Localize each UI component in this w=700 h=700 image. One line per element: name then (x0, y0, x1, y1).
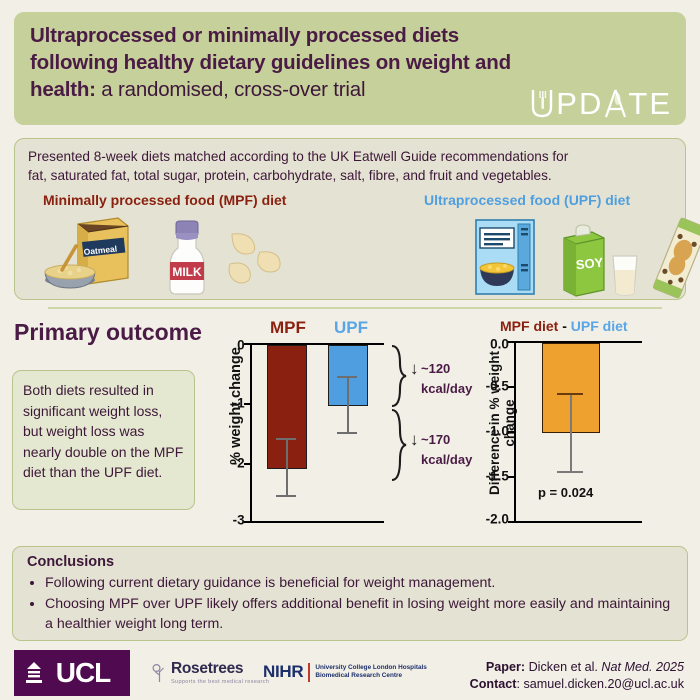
chart2-tick-2 (508, 431, 514, 433)
primary-outcome-summary: Both diets resulted in significant weigh… (12, 370, 195, 510)
chart1-bottom-line (250, 521, 384, 523)
footer: UCL Rosetrees Supports the best medical … (0, 648, 700, 700)
infographic-page: Ultraprocessed or minimally processed di… (0, 0, 700, 700)
chart2-tick-4 (508, 521, 514, 523)
chart2-tick-1 (508, 386, 514, 388)
update-u-fork-icon (530, 88, 554, 119)
errorbar-difference-cap-top (557, 393, 583, 395)
glass-of-milk-icon (606, 250, 644, 298)
ucl-logo: UCL (14, 650, 130, 696)
paper-journal: Nat Med. 2025 (601, 660, 684, 674)
nihr-logo: NIHR University College London Hospitals… (263, 662, 427, 682)
nihr-subtitle-line-2: Biomedical Research Centre (315, 672, 427, 680)
chart2-title-upf: UPF diet (571, 318, 628, 334)
diets-panel: Presented 8-week diets matched according… (14, 138, 686, 300)
errorbar-upf (347, 376, 349, 432)
nihr-divider (308, 663, 310, 682)
rosetrees-logo: Rosetrees Supports the best medical rese… (152, 660, 269, 685)
conclusions-list: Following current dietary guidance is be… (45, 573, 673, 634)
update-letter-e: E (649, 88, 672, 119)
cereal-box-icon (468, 216, 544, 300)
contact-line: Contact: samuel.dicken.20@ucl.ac.uk (470, 676, 684, 693)
ucl-wordmark: UCL (56, 657, 111, 689)
chart1-ticklabel-2: -2 (233, 456, 245, 471)
chart1-tick-0 (244, 343, 250, 345)
diet-headings: Minimally processed food (MPF) diet Ultr… (28, 192, 672, 212)
cashew-nuts-icon (224, 228, 288, 290)
kcal-170-value: ~170 (421, 432, 450, 447)
errorbar-upf-cap-bottom (337, 432, 357, 434)
nihr-subtitle: University College London Hospitals Biom… (315, 664, 427, 680)
update-a-knife-icon (603, 88, 628, 119)
cereal-bar-icon (646, 216, 700, 300)
errorbar-upf-cap-top (337, 376, 357, 378)
errorbar-mpf-cap-bottom (276, 495, 296, 497)
contact-email[interactable]: : samuel.dicken.20@ucl.ac.uk (517, 677, 685, 691)
svg-text:SOY: SOY (575, 255, 604, 273)
title-subtitle: a randomised, cross-over trial (96, 78, 366, 101)
food-illustrations-row: Oatmeal MILK (28, 214, 672, 302)
kcal-annotations: ↓ ~120 kcal/day ↓ ~170 kcal/day (388, 343, 460, 525)
chart1-plot-area: 0 -1 -2 -3 (250, 343, 384, 523)
conclusions-panel: Conclusions Following current dietary gu… (12, 546, 688, 641)
kcal-120-value: ~120 (421, 361, 450, 376)
chart2-title-dash: - (558, 318, 570, 334)
brace-icons (388, 343, 408, 525)
paper-authors: Dicken et al. (525, 660, 601, 674)
chart1-tick-1 (244, 403, 250, 405)
errorbar-mpf (286, 438, 288, 495)
chart2-plot-area: 0.0 -0.5 -1.0 -1.5 -2.0 p = 0.024 (514, 341, 642, 523)
update-letter-t: T (628, 88, 649, 119)
paper-label: Paper: (486, 660, 525, 674)
arrow-down-120-icon: ↓ (410, 361, 419, 376)
chart2-bottom-line (514, 521, 642, 523)
milk-bottle-icon: MILK (156, 218, 218, 298)
chart2-ticklabel-1: -0.5 (486, 379, 509, 394)
conclusion-item-1: Following current dietary guidance is be… (45, 573, 673, 593)
errorbar-mpf-cap-top (276, 438, 296, 440)
upf-diet-heading: Ultraprocessed food (UPF) diet (424, 192, 630, 208)
weight-change-bar-chart: MPF UPF % weight change 0 -1 -2 -3 (206, 318, 456, 540)
contact-label: Contact (470, 677, 517, 691)
paper-contact-block: Paper: Dicken et al. Nat Med. 2025 Conta… (470, 659, 684, 693)
title-line-2: following healthy dietary guidelines on … (30, 49, 670, 76)
chart1-ticklabel-1: -1 (233, 396, 245, 411)
diets-description-line-2: fat, saturated fat, total sugar, protein… (28, 167, 672, 186)
chart2-tick-0 (508, 341, 514, 343)
update-letter-p: P (556, 88, 579, 119)
chart2-ticklabel-3: -1.5 (486, 469, 509, 484)
errorbar-difference (570, 393, 572, 470)
chart2-tick-3 (508, 476, 514, 478)
chart2-y-axis (514, 341, 516, 523)
nihr-wordmark: NIHR (263, 662, 303, 682)
errorbar-difference-cap-bottom (557, 471, 583, 473)
conclusions-heading: Conclusions (27, 554, 673, 570)
p-value-annotation: p = 0.024 (538, 485, 593, 500)
primary-outcome-heading: Primary outcome (14, 319, 202, 346)
svg-text:MILK: MILK (172, 265, 202, 279)
arrow-down-170-icon: ↓ (410, 432, 419, 447)
diets-description-line-1: Presented 8-week diets matched according… (28, 148, 672, 167)
nihr-subtitle-line-1: University College London Hospitals (315, 664, 427, 672)
oatmeal-box-and-bowl-icon: Oatmeal (42, 216, 152, 300)
title-subject: health: (30, 78, 96, 101)
rosetrees-tree-icon (152, 663, 167, 683)
rosetrees-tagline: Supports the best medical research (171, 679, 269, 685)
section-divider (48, 307, 662, 309)
update-letter-d: D (579, 88, 603, 119)
chart2-ticklabel-2: -1.0 (486, 424, 509, 439)
chart1-ticklabel-0: 0 (237, 338, 245, 353)
chart1-tick-2 (244, 463, 250, 465)
legend-upf: UPF (334, 318, 368, 338)
ucl-crest-icon (24, 661, 44, 685)
update-logo: P D T E (530, 88, 672, 119)
mpf-diet-heading: Minimally processed food (MPF) diet (43, 192, 286, 208)
rosetrees-name: Rosetrees (171, 660, 269, 678)
soy-carton-icon: SOY (552, 220, 612, 300)
chart2-ticklabel-4: -2.0 (486, 512, 509, 527)
chart1-tick-3 (244, 521, 250, 523)
conclusion-item-2: Choosing MPF over UPF likely offers addi… (45, 594, 673, 634)
legend-mpf: MPF (270, 318, 306, 338)
title-banner: Ultraprocessed or minimally processed di… (14, 12, 686, 125)
chart1-ticklabel-3: -3 (233, 513, 245, 528)
chart2-title: MPF diet - UPF diet (500, 318, 628, 334)
difference-bar-chart: MPF diet - UPF diet Difference in % weig… (462, 318, 694, 540)
title-line-1: Ultraprocessed or minimally processed di… (30, 22, 670, 49)
chart1-y-axis (250, 343, 252, 523)
paper-line: Paper: Dicken et al. Nat Med. 2025 (470, 659, 684, 676)
chart2-ticklabel-0: 0.0 (490, 337, 509, 352)
